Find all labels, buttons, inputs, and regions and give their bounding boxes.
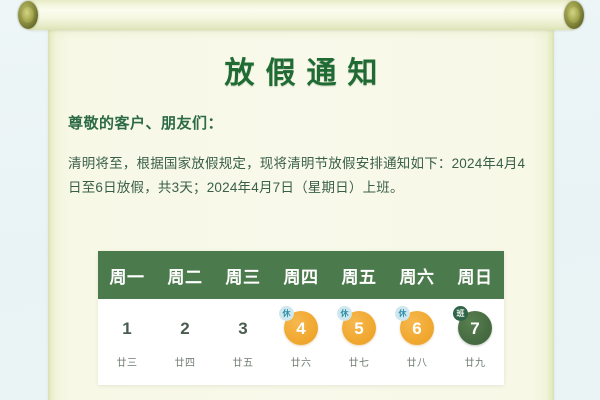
calendar-day-row: 1廿三2廿四3廿五休4廿六休5廿七休6廿八班7廿九 [98, 299, 504, 385]
calendar-weekday-header: 周六 [388, 251, 446, 299]
notice-content: 放假通知 尊敬的客户、朋友们： 清明将至，根据国家放假规定，现将清明节放假安排通… [46, 0, 556, 400]
work-day-badge: 班 [453, 306, 468, 321]
calendar-day-cell[interactable]: 休5廿七 [330, 303, 388, 385]
calendar-day-circle: 班7 [458, 311, 492, 345]
calendar-day-number: 1 [122, 320, 131, 337]
greeting-line: 尊敬的客户、朋友们： [68, 112, 223, 133]
rest-day-badge: 休 [337, 306, 352, 321]
calendar-day-number: 2 [180, 320, 189, 337]
calendar-day-number: 4 [296, 320, 305, 337]
page-title: 放假通知 [46, 48, 556, 92]
calendar-day-cell[interactable]: 休4廿六 [272, 303, 330, 385]
calendar-lunar-label: 廿九 [465, 354, 486, 369]
calendar-day-number: 3 [238, 320, 247, 337]
calendar-lunar-label: 廿五 [233, 354, 254, 369]
holiday-calendar: 周一周二周三周四周五周六周日 1廿三2廿四3廿五休4廿六休5廿七休6廿八班7廿九 [98, 251, 504, 385]
scroll-roller-cap-right-icon [564, 1, 584, 29]
calendar-header-row: 周一周二周三周四周五周六周日 [98, 251, 504, 299]
calendar-day-number: 6 [412, 320, 421, 337]
calendar-day-cell[interactable]: 3廿五 [214, 303, 272, 385]
calendar-day-circle: 休5 [342, 311, 376, 345]
calendar-day-circle: 1 [110, 311, 144, 345]
page-background: 放假通知 尊敬的客户、朋友们： 清明将至，根据国家放假规定，现将清明节放假安排通… [0, 0, 600, 400]
calendar-day-cell[interactable]: 2廿四 [156, 303, 214, 385]
calendar-lunar-label: 廿七 [349, 354, 370, 369]
rest-day-badge: 休 [395, 306, 410, 321]
calendar-weekday-header: 周日 [446, 251, 504, 299]
calendar-weekday-header: 周二 [156, 251, 214, 299]
calendar-day-cell[interactable]: 班7廿九 [446, 303, 504, 385]
calendar-weekday-header: 周五 [330, 251, 388, 299]
calendar-day-cell[interactable]: 休6廿八 [388, 303, 446, 385]
notice-body-text: 清明将至，根据国家放假规定，现将清明节放假安排通知如下：2024年4月4日至6日… [68, 152, 538, 200]
calendar-day-circle: 3 [226, 311, 260, 345]
calendar-day-number: 7 [470, 320, 479, 337]
calendar-lunar-label: 廿四 [175, 354, 196, 369]
rest-day-badge: 休 [279, 306, 294, 321]
calendar-day-circle: 休6 [400, 311, 434, 345]
calendar-day-circle: 休4 [284, 311, 318, 345]
scroll-roller-cap-left-icon [18, 1, 38, 29]
calendar-lunar-label: 廿六 [291, 354, 312, 369]
calendar-weekday-header: 周四 [272, 251, 330, 299]
calendar-day-number: 5 [354, 320, 363, 337]
hanging-scroll: 放假通知 尊敬的客户、朋友们： 清明将至，根据国家放假规定，现将清明节放假安排通… [46, 0, 556, 400]
calendar-weekday-header: 周一 [98, 251, 156, 299]
calendar-lunar-label: 廿八 [407, 354, 428, 369]
calendar-day-circle: 2 [168, 311, 202, 345]
calendar-weekday-header: 周三 [214, 251, 272, 299]
calendar-lunar-label: 廿三 [117, 354, 138, 369]
calendar-day-cell[interactable]: 1廿三 [98, 303, 156, 385]
